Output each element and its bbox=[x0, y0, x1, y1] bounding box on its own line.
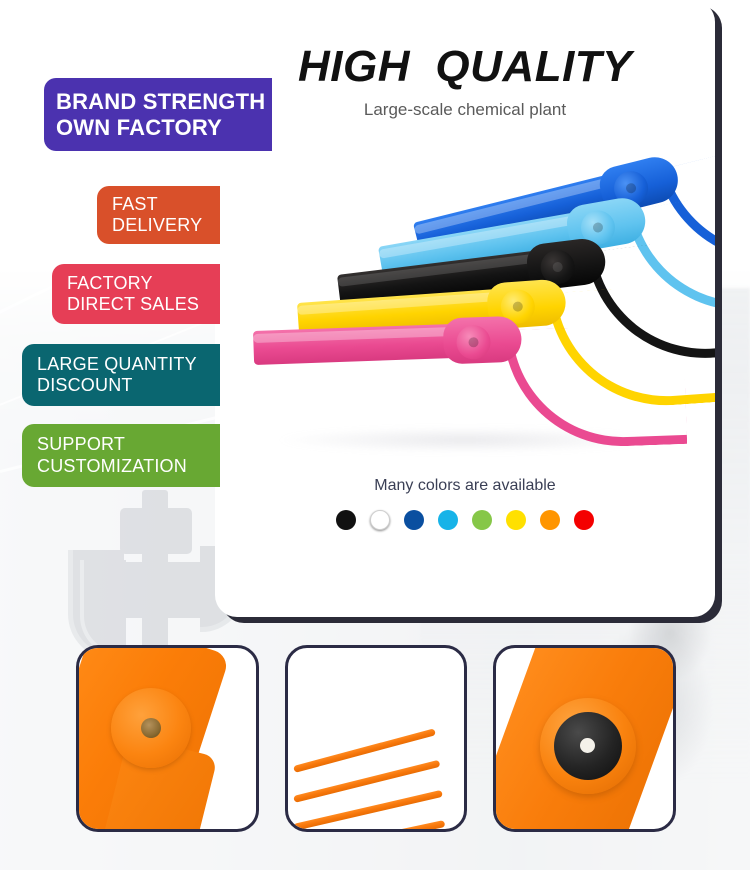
swatch-white[interactable] bbox=[370, 510, 390, 530]
swatch-dark-blue[interactable] bbox=[404, 510, 424, 530]
swatch-orange[interactable] bbox=[540, 510, 560, 530]
screw-icon bbox=[141, 718, 161, 738]
page-subtitle: Large-scale chemical plant bbox=[215, 100, 715, 120]
color-swatch-row bbox=[215, 510, 715, 530]
product-card: HIGH QUALITY Large-scale chemical plant bbox=[215, 0, 715, 617]
badge-factory-direct-sales[interactable]: FACTORY DIRECT SALES bbox=[52, 264, 220, 324]
headline-block: HIGH QUALITY Large-scale chemical plant bbox=[215, 44, 715, 120]
badge-support-customization[interactable]: SUPPORT CUSTOMIZATION bbox=[22, 424, 220, 487]
badge-brand-strength[interactable]: BRAND STRENGTH OWN FACTORY bbox=[44, 78, 272, 151]
swatch-label: Many colors are available bbox=[215, 477, 715, 495]
swatch-cyan[interactable] bbox=[438, 510, 458, 530]
thumbnail-row bbox=[76, 645, 676, 835]
badge-label: SUPPORT CUSTOMIZATION bbox=[37, 434, 187, 476]
swatch-yellow[interactable] bbox=[506, 510, 526, 530]
thumbnail-boss-screw[interactable] bbox=[76, 645, 259, 832]
badge-label: LARGE QUANTITY DISCOUNT bbox=[37, 354, 197, 396]
swatch-red[interactable] bbox=[574, 510, 594, 530]
thumbnail-sticks[interactable] bbox=[285, 645, 468, 832]
swatch-black[interactable] bbox=[336, 510, 356, 530]
thumbnail-black-grommet[interactable] bbox=[493, 645, 676, 832]
badge-large-quantity-discount[interactable]: LARGE QUANTITY DISCOUNT bbox=[22, 344, 220, 406]
badge-label: FAST DELIVERY bbox=[112, 194, 202, 236]
page-title: HIGH QUALITY bbox=[215, 44, 715, 90]
badge-label: BRAND STRENGTH OWN FACTORY bbox=[56, 89, 265, 141]
badge-label: FACTORY DIRECT SALES bbox=[67, 273, 199, 315]
product-photo bbox=[235, 165, 695, 465]
swatch-green[interactable] bbox=[472, 510, 492, 530]
badge-fast-delivery[interactable]: FAST DELIVERY bbox=[97, 186, 220, 244]
